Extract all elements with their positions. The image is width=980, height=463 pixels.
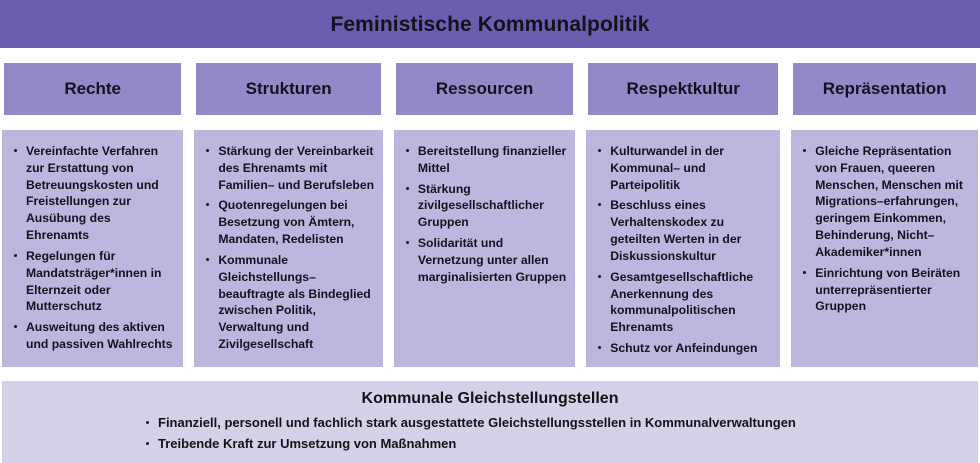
list-item: Einrichtung von Beiräten unterrepräsenti…	[795, 265, 971, 315]
pillar-column-rechte: Rechte Vereinfachte Verfahren zur Erstat…	[2, 63, 183, 367]
column-header-strukturen: Strukturen	[196, 63, 381, 115]
title-banner: Feministische Kommunalpolitik	[0, 0, 980, 48]
list-item: Treibende Kraft zur Umsetzung von Maßnah…	[140, 435, 968, 453]
column-header-label: Strukturen	[243, 80, 335, 99]
pillar-column-strukturen: Strukturen Stärkung der Vereinbarkeit de…	[194, 63, 383, 367]
list-item: Stärkung zivilgesellschaftlicher Gruppen	[398, 181, 568, 231]
column-header-repraesentation: Repräsentation	[793, 63, 976, 115]
bullet-list-repraesentation: Gleiche Repräsentation von Frauen, queer…	[795, 143, 971, 315]
page-title: Feministische Kommunalpolitik	[330, 14, 649, 35]
list-item: Beschluss eines Verhaltenskodex zu getei…	[590, 197, 773, 264]
list-item: Kommunale Gleichstellungs–beauftragte al…	[198, 252, 376, 353]
column-card-strukturen: Stärkung der Vereinbarkeit des Ehrenamts…	[194, 130, 383, 367]
list-item: Schutz vor Anfeindungen	[590, 340, 773, 357]
column-header-respektkultur: Respektkultur	[588, 63, 778, 115]
column-header-label: Ressourcen	[433, 80, 536, 99]
list-item: Gleiche Repräsentation von Frauen, queer…	[795, 143, 971, 261]
bullet-list-rechte: Vereinfachte Verfahren zur Erstattung vo…	[6, 143, 176, 353]
list-item: Gesamtgesellschaftliche Anerkennung des …	[590, 269, 773, 336]
pillar-columns: Rechte Vereinfachte Verfahren zur Erstat…	[0, 48, 980, 367]
list-item: Regelungen für Mandatsträger*innen in El…	[6, 248, 176, 315]
list-item: Stärkung der Vereinbarkeit des Ehrenamts…	[198, 143, 376, 193]
list-item: Quotenregelungen bei Besetzung von Ämter…	[198, 197, 376, 247]
column-card-ressourcen: Bereitstellung finanzieller Mittel Stärk…	[394, 130, 575, 367]
column-card-respektkultur: Kulturwandel in der Kommunal– und Partei…	[586, 130, 780, 367]
column-header-label: Respektkultur	[624, 80, 743, 99]
bullet-list-ressourcen: Bereitstellung finanzieller Mittel Stärk…	[398, 143, 568, 286]
list-item: Solidarität und Vernetzung unter allen m…	[398, 235, 568, 285]
list-item: Ausweitung des aktiven und passiven Wahl…	[6, 319, 176, 353]
list-item: Vereinfachte Verfahren zur Erstattung vo…	[6, 143, 176, 244]
bullet-list-respektkultur: Kulturwandel in der Kommunal– und Partei…	[590, 143, 773, 357]
footer-band: Kommunale Gleichstellungstellen Finanzie…	[2, 381, 978, 463]
column-header-ressourcen: Ressourcen	[396, 63, 573, 115]
column-header-label: Repräsentation	[820, 80, 950, 99]
column-card-rechte: Vereinfachte Verfahren zur Erstattung vo…	[2, 130, 183, 367]
list-item: Finanziell, personell und fachlich stark…	[140, 414, 968, 432]
infographic-root: Feministische Kommunalpolitik Rechte Ver…	[0, 0, 980, 454]
footer-title: Kommunale Gleichstellungstellen	[12, 389, 968, 408]
bullet-list-strukturen: Stärkung der Vereinbarkeit des Ehrenamts…	[198, 143, 376, 353]
column-header-label: Rechte	[61, 80, 124, 99]
column-header-rechte: Rechte	[4, 63, 181, 115]
pillar-column-ressourcen: Ressourcen Bereitstellung finanzieller M…	[394, 63, 575, 367]
list-item: Kulturwandel in der Kommunal– und Partei…	[590, 143, 773, 193]
pillar-column-repraesentation: Repräsentation Gleiche Repräsentation vo…	[791, 63, 978, 367]
footer-bullet-list: Finanziell, personell und fachlich stark…	[12, 414, 968, 452]
pillar-column-respektkultur: Respektkultur Kulturwandel in der Kommun…	[586, 63, 780, 367]
list-item: Bereitstellung finanzieller Mittel	[398, 143, 568, 177]
column-card-repraesentation: Gleiche Repräsentation von Frauen, queer…	[791, 130, 978, 367]
